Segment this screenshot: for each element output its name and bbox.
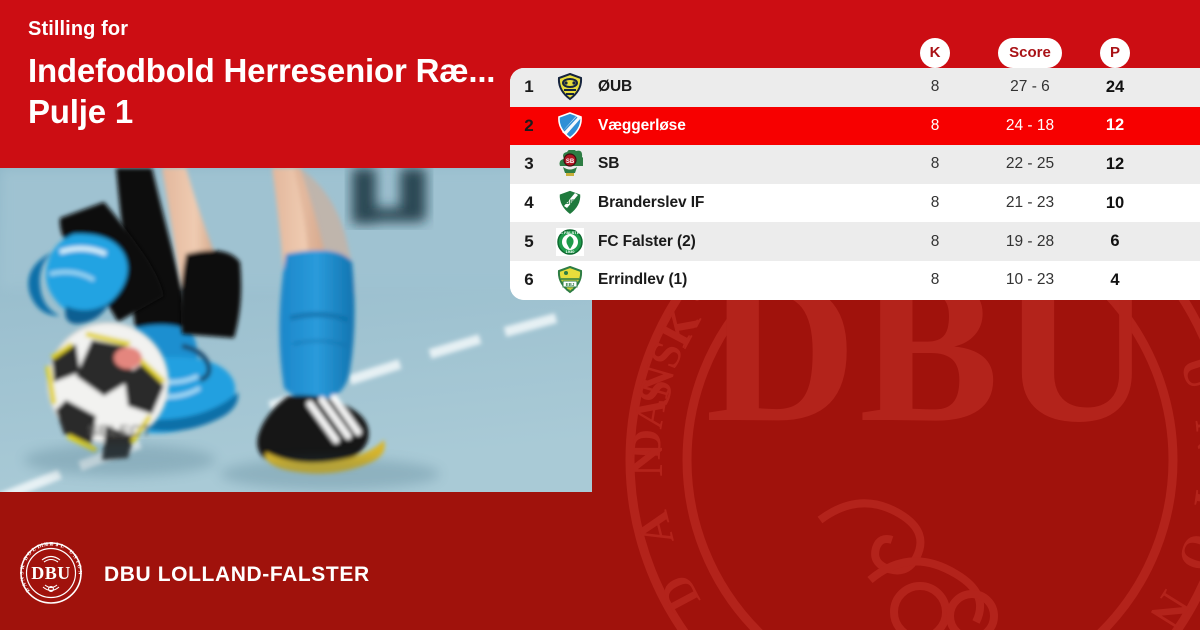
- svg-text:1936: 1936: [566, 288, 574, 292]
- dbu-seal-icon: DBU D A N S K B O: [20, 542, 82, 609]
- svg-text:S: S: [20, 571, 26, 574]
- row-score: 21 - 23: [978, 194, 1082, 212]
- row-points: 24: [1082, 78, 1148, 97]
- svg-text:SELECT: SELECT: [88, 423, 151, 440]
- standings-table: 1 ØUB 8 27 - 6 24 2: [510, 68, 1200, 300]
- svg-text:SB: SB: [566, 159, 575, 165]
- oub-crest-icon: [548, 73, 592, 101]
- header: Stilling for Indefodbold Herresenior Ræ.…: [28, 18, 548, 133]
- svg-text:EBJ: EBJ: [566, 282, 575, 287]
- table-row[interactable]: 3 SB SB 8 22 - 25 12: [510, 145, 1200, 184]
- svg-text:1930: 1930: [566, 249, 576, 254]
- svg-text:9: 9: [55, 542, 59, 548]
- row-points: 12: [1082, 155, 1148, 174]
- row-position: 6: [510, 270, 548, 290]
- branderslev-crest-icon: BIF: [548, 189, 592, 217]
- row-position: 5: [510, 232, 548, 252]
- row-team-name: Errindlev (1): [592, 271, 892, 289]
- svg-text:8: 8: [51, 542, 54, 548]
- row-team-name: Branderslev IF: [592, 194, 892, 212]
- poster-canvas: DBU DANSK · BOLDSPIL · UNION · D A N: [0, 0, 1200, 630]
- table-row[interactable]: 6 EBJ 1936 Errindlev (1) 8 10 - 23 4: [510, 261, 1200, 300]
- table-row[interactable]: 1 ØUB 8 27 - 6 24: [510, 68, 1200, 107]
- row-matches: 8: [892, 117, 978, 135]
- svg-text:DBU: DBU: [31, 563, 71, 583]
- row-score: 10 - 23: [978, 271, 1082, 289]
- svg-text:FC FALSTER: FC FALSTER: [558, 230, 583, 235]
- table-row[interactable]: 2 Væggerløse 8 24 - 18 12: [510, 107, 1200, 146]
- row-matches: 8: [892, 233, 978, 251]
- row-score: 19 - 28: [978, 233, 1082, 251]
- row-position: 4: [510, 193, 548, 213]
- column-header-score: Score: [998, 38, 1062, 68]
- svg-text:N: N: [76, 570, 82, 574]
- sb-crest-icon: SB: [548, 150, 592, 178]
- vaeggerloese-crest-icon: [548, 112, 592, 140]
- row-team-name: ØUB: [592, 78, 892, 96]
- row-position: 1: [510, 77, 548, 97]
- row-team-name: Væggerløse: [592, 117, 892, 135]
- footer: DBU D A N S K B O: [0, 520, 1200, 630]
- row-points: 6: [1082, 232, 1148, 251]
- row-score: 22 - 25: [978, 155, 1082, 173]
- row-points: 12: [1082, 116, 1148, 135]
- svg-text:K: K: [20, 563, 27, 569]
- table-row[interactable]: 4 BIF Branderslev IF 8 21 - 23 10: [510, 184, 1200, 223]
- row-points: 4: [1082, 271, 1148, 290]
- row-matches: 8: [892, 194, 978, 212]
- hero-photo: SELECT: [0, 168, 592, 492]
- table-column-headers: K Score P: [510, 38, 1200, 68]
- row-position: 3: [510, 154, 548, 174]
- row-team-name: FC Falster (2): [592, 233, 892, 251]
- page-title-line2: Pulje 1: [28, 91, 548, 132]
- svg-text:BIF: BIF: [565, 200, 575, 206]
- row-score: 24 - 18: [978, 117, 1082, 135]
- column-header-p: P: [1100, 38, 1130, 68]
- row-matches: 8: [892, 78, 978, 96]
- errindlev-crest-icon: EBJ 1936: [548, 266, 592, 294]
- row-matches: 8: [892, 155, 978, 173]
- fcfalster-crest-icon: FC FALSTER 1930: [548, 228, 592, 256]
- page-title-line1: Indefodbold Herresenior Ræ...: [28, 50, 548, 91]
- column-header-k: K: [920, 38, 950, 68]
- row-score: 27 - 6: [978, 78, 1082, 96]
- row-team-name: SB: [592, 155, 892, 173]
- table-row[interactable]: 5 FC FALSTER 1930 FC Falster (2) 8 19 - …: [510, 222, 1200, 261]
- row-position: 2: [510, 116, 548, 136]
- footer-org-name: DBU LOLLAND-FALSTER: [104, 563, 370, 587]
- header-kicker: Stilling for: [28, 18, 548, 40]
- row-matches: 8: [892, 271, 978, 289]
- row-points: 10: [1082, 194, 1148, 213]
